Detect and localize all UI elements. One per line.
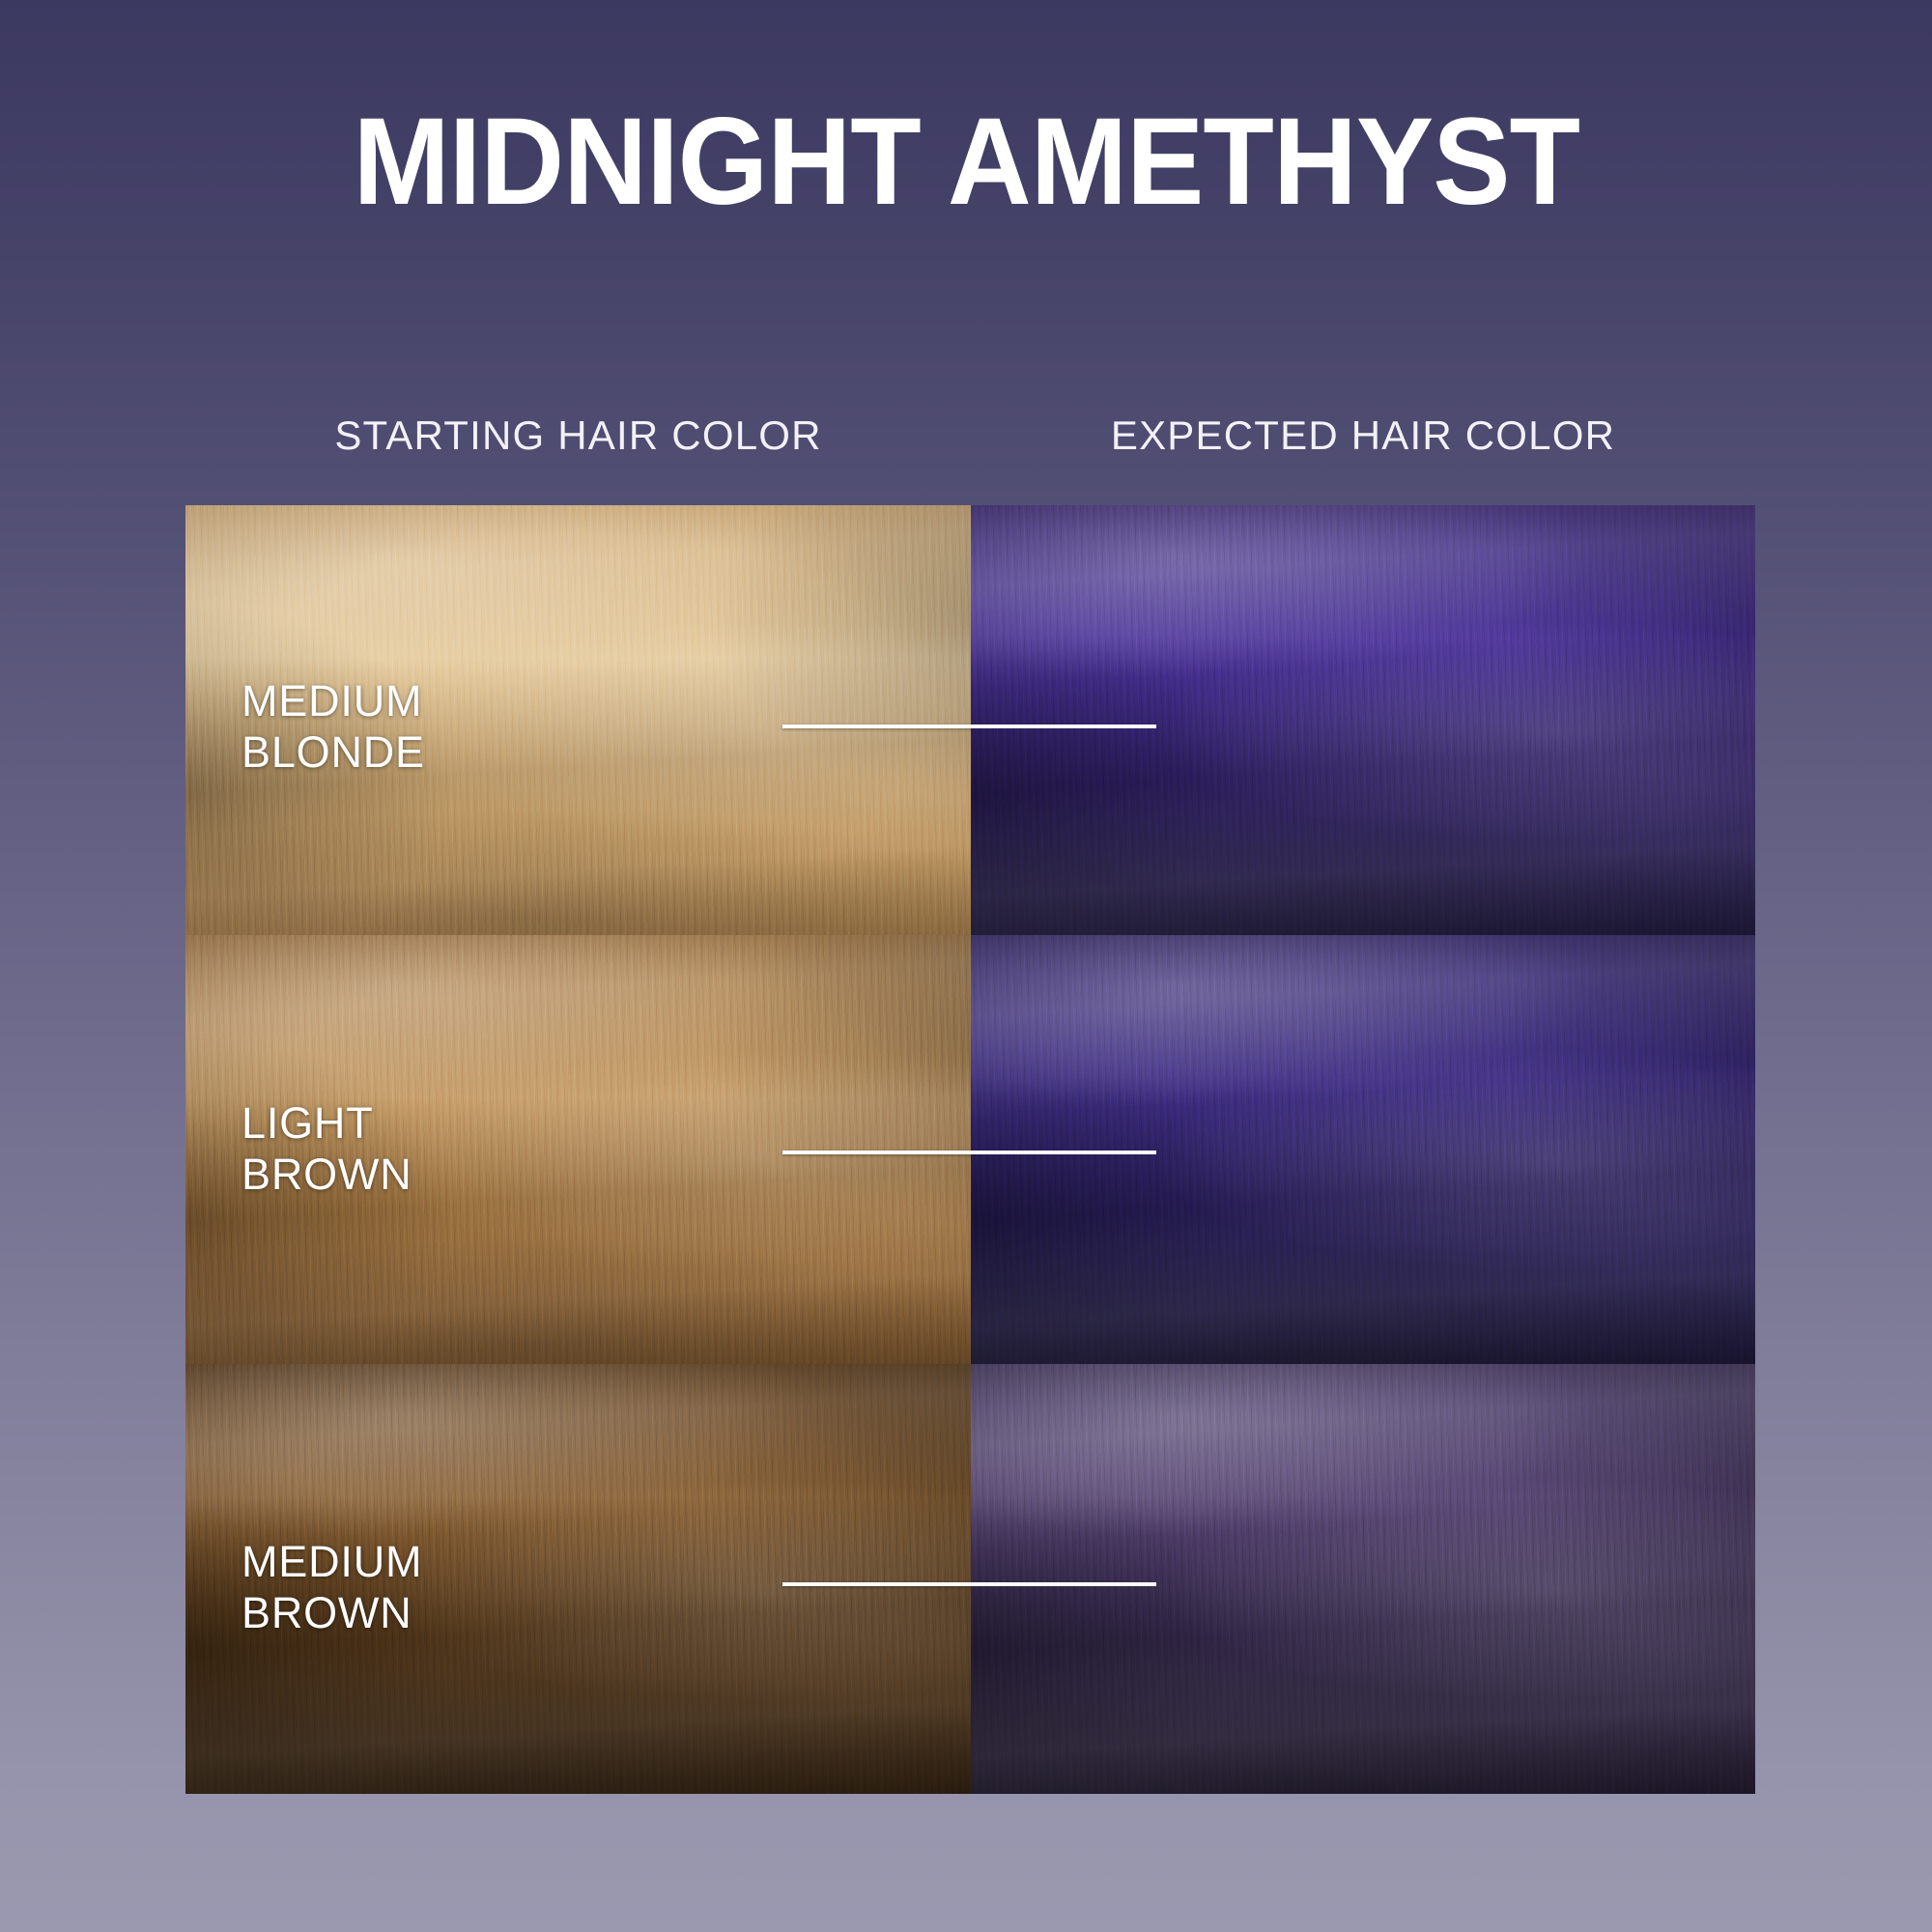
swatch-starting-medium-blonde: MEDIUM BLONDE (185, 505, 971, 935)
swatch-starting-medium-brown: MEDIUM BROWN (185, 1364, 971, 1794)
column-header-starting: STARTING HAIR COLOR (185, 412, 971, 459)
connector-line-medium-brown (782, 1582, 971, 1586)
connector-line-medium-blonde (782, 724, 971, 728)
row-label-medium-brown: MEDIUM BROWN (241, 1536, 422, 1638)
row-label-medium-blonde: MEDIUM BLONDE (241, 675, 425, 778)
swatch-expected-light-brown (971, 935, 1755, 1364)
table-row: MEDIUM BROWN (185, 1364, 1755, 1794)
table-row: LIGHT BROWN (185, 935, 1755, 1364)
connector-line-light-brown (782, 1151, 971, 1154)
title-bar: MIDNIGHT AMETHYST (0, 100, 1932, 224)
column-headers: STARTING HAIR COLOR EXPECTED HAIR COLOR (185, 412, 1755, 472)
swatch-expected-medium-brown (971, 1364, 1755, 1794)
table-row: MEDIUM BLONDE (185, 505, 1755, 935)
column-header-expected: EXPECTED HAIR COLOR (971, 412, 1755, 459)
swatch-starting-light-brown: LIGHT BROWN (185, 935, 971, 1364)
row-label-light-brown: LIGHT BROWN (241, 1097, 412, 1200)
page-title: MIDNIGHT AMETHYST (353, 100, 1579, 224)
connector-line-light-brown-right (971, 1151, 1156, 1154)
connector-line-medium-brown-right (971, 1582, 1156, 1586)
hair-color-comparison-panel: MEDIUM BLONDE LIGHT BROWN (185, 505, 1755, 1794)
connector-line-medium-blonde-right (971, 724, 1156, 728)
swatch-expected-medium-blonde (971, 505, 1755, 935)
